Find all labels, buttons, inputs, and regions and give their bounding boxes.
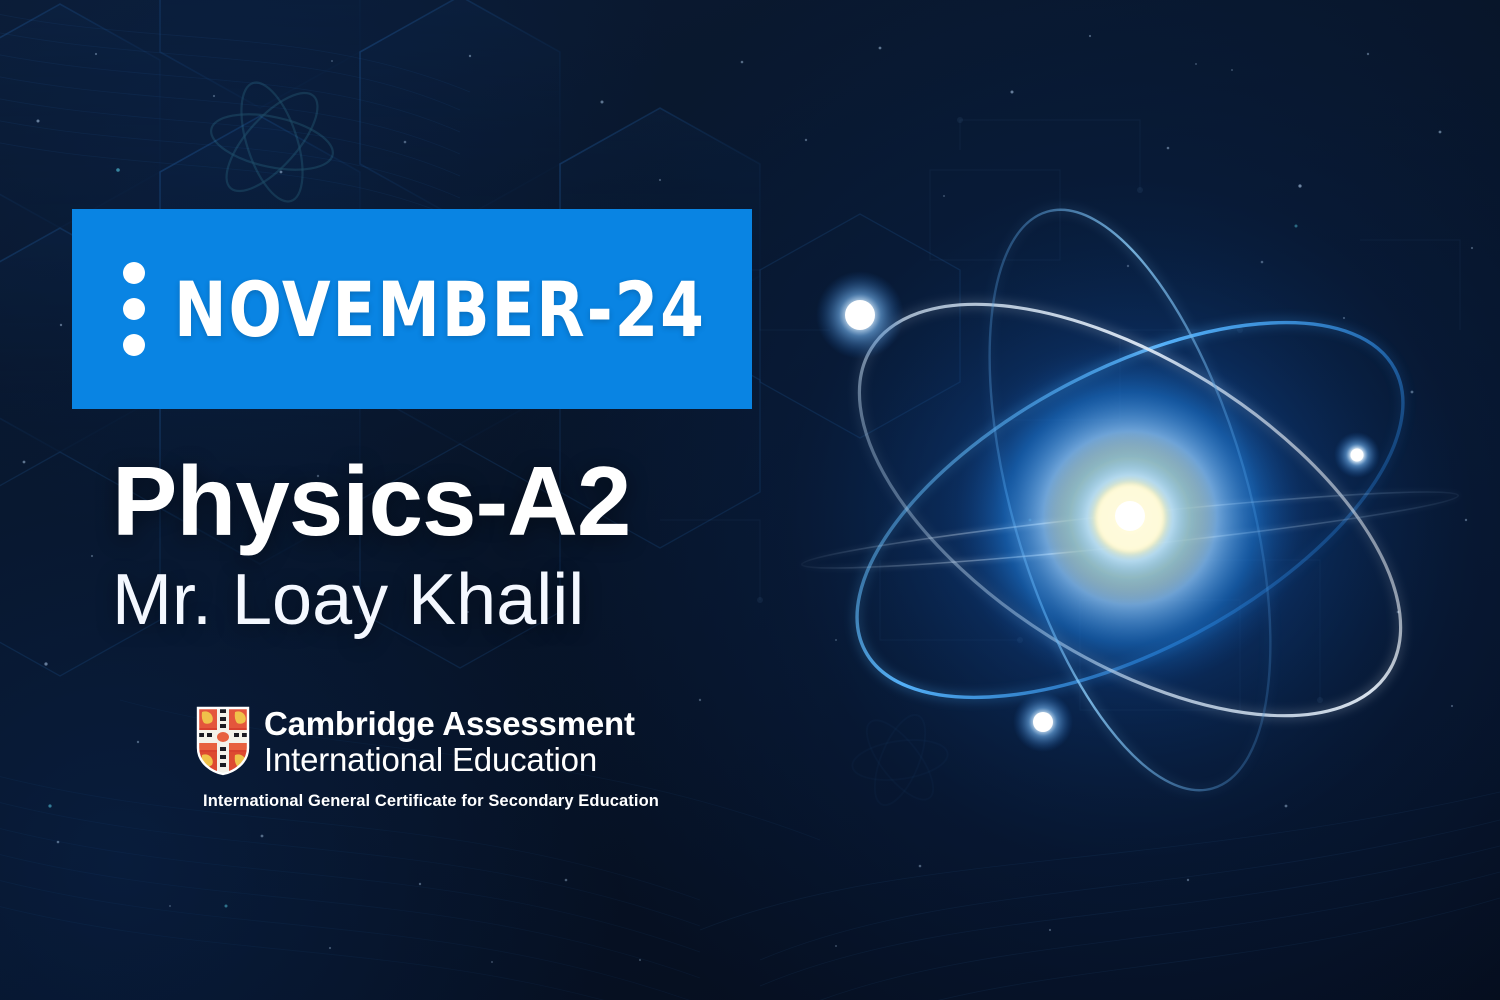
course-title: Physics-A2 <box>112 452 772 552</box>
electron-bottom <box>1013 692 1073 752</box>
cambridge-tagline: International General Certificate for Se… <box>196 792 666 811</box>
slide-canvas: NOVEMBER-24 Physics-A2 Mr. Loay Khalil <box>0 0 1500 1000</box>
headline-block: Physics-A2 Mr. Loay Khalil <box>112 452 772 640</box>
cambridge-logo-lockup: Cambridge Assessment International Educa… <box>196 706 666 811</box>
cambridge-line-2: International Education <box>264 743 635 776</box>
cambridge-crest-icon <box>196 706 250 776</box>
glowing-nucleus-icon <box>955 343 1305 693</box>
electron-right <box>1334 432 1380 478</box>
cambridge-line-1: Cambridge Assessment <box>264 707 635 740</box>
month-banner-label: NOVEMBER-24 <box>174 265 706 354</box>
electron-top-left <box>816 271 904 359</box>
three-dots-vertical-icon <box>100 262 168 356</box>
atom-illustration <box>760 80 1500 920</box>
teacher-name: Mr. Loay Khalil <box>112 562 772 640</box>
month-banner[interactable]: NOVEMBER-24 <box>72 209 752 409</box>
